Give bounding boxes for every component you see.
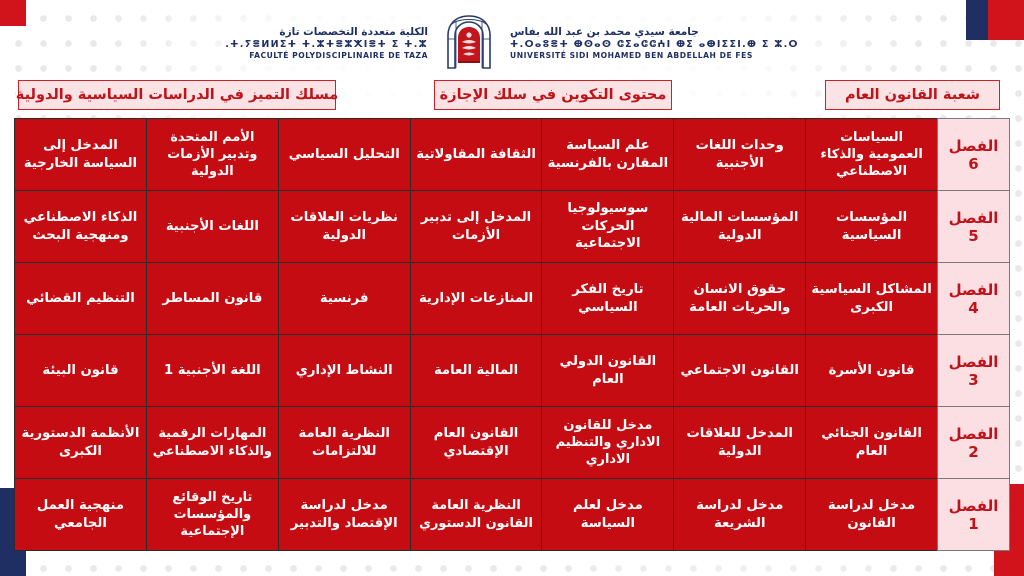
course-cell: نظريات العلاقات الدولية bbox=[278, 191, 410, 263]
course-cell: السياسات العمومية والذكاء الاصطناعي bbox=[806, 119, 938, 191]
course-cell: التنظيم القضائي bbox=[15, 263, 147, 335]
faculty-name-tifinagh: ⵜ.ⵢⴻⵍⵍⵉⵜ ⵜ.ⵣⵜⴻⵣⵅⵏⴻⵜ ⵉ ⵜ.ⵣ. bbox=[225, 39, 428, 51]
course-cell: الذكاء الاصطناعي ومنهجية البحث bbox=[15, 191, 147, 263]
faculty-name-french: FACULTÉ POLYDISCIPLINAIRE DE TAZA bbox=[249, 51, 428, 60]
course-cell: منهجية العمل الجامعي bbox=[15, 479, 147, 551]
course-cell: المنازعات الإدارية bbox=[410, 263, 542, 335]
course-cell: مدخل لدراسة الإقتصاد والتدبير bbox=[278, 479, 410, 551]
course-cell: حقوق الانسان والحريات العامة bbox=[674, 263, 806, 335]
university-name-arabic: جامعة سيدي محمد بن عبد الله بفاس bbox=[510, 26, 699, 39]
course-cell: المدخل إلى السياسة الخارجية bbox=[15, 119, 147, 191]
university-name-french: UNIVERSITÉ SIDI MOHAMED BEN ABDELLAH DE … bbox=[510, 51, 753, 60]
semester-label-cell: الفصل 4 bbox=[938, 263, 1010, 335]
banner-section-title: شعبة القانون العام bbox=[825, 80, 1000, 110]
course-cell: قانون البيئة bbox=[15, 335, 147, 407]
course-cell: المدخل إلى تدبير الأزمات bbox=[410, 191, 542, 263]
table-row: الفصل 3قانون الأسرةالقانون الاجتماعيالقا… bbox=[15, 335, 1010, 407]
semester-label-cell: الفصل 3 bbox=[938, 335, 1010, 407]
table-row: الفصل 2القانون الجنائي العامالمدخل للعلا… bbox=[15, 407, 1010, 479]
course-cell: فرنسية bbox=[278, 263, 410, 335]
curriculum-table-body: الفصل 6السياسات العمومية والذكاء الاصطنا… bbox=[15, 119, 1010, 551]
curriculum-table: الفصل 6السياسات العمومية والذكاء الاصطنا… bbox=[14, 118, 1010, 551]
course-cell: التحليل السياسي bbox=[278, 119, 410, 191]
semester-label-cell: الفصل 2 bbox=[938, 407, 1010, 479]
course-cell: تاريخ الفكر السياسي bbox=[542, 263, 674, 335]
course-cell: القانون الدولي العام bbox=[542, 335, 674, 407]
university-name-tifinagh: ⵜ.ⵔⴰⵓⴻⵜ ⴲⵙⴰⵙ ⵛⵉⴰⵛⵛⵄⵏ ⴲⵉ ⴰⴲⵏⵉⵉⵏ.ⴲ ⵉ ⵣ.ⵔ bbox=[510, 39, 799, 51]
university-identity-block: جامعة سيدي محمد بن عبد الله بفاس ⵜ.ⵔⴰⵓⴻⵜ… bbox=[502, 26, 799, 60]
course-cell: اللغات الأجنبية bbox=[146, 191, 278, 263]
table-row: الفصل 1مدخل لدراسة القانونمدخل لدراسة ال… bbox=[15, 479, 1010, 551]
course-cell: القانون الجنائي العام bbox=[806, 407, 938, 479]
course-cell: القانون الاجتماعي bbox=[674, 335, 806, 407]
table-row: الفصل 4المشاكل السياسية الكبرىحقوق الانس… bbox=[15, 263, 1010, 335]
course-cell: المهارات الرقمية والذكاء الاصطناعي bbox=[146, 407, 278, 479]
course-cell: الأمم المتحدة وتدبير الأزمات الدولية bbox=[146, 119, 278, 191]
slide-header: جامعة سيدي محمد بن عبد الله بفاس ⵜ.ⵔⴰⵓⴻⵜ… bbox=[0, 14, 1024, 72]
course-cell: المؤسسات المالية الدولية bbox=[674, 191, 806, 263]
course-cell: الثقافة المقاولاتية bbox=[410, 119, 542, 191]
course-cell: سوسيولوجيا الحركات الاجتماعية bbox=[542, 191, 674, 263]
table-row: الفصل 5المؤسسات السياسيةالمؤسسات المالية… bbox=[15, 191, 1010, 263]
banner-row: شعبة القانون العام محتوى التكوين في سلك … bbox=[0, 80, 1024, 112]
course-cell: النظرية العامة للالتزامات bbox=[278, 407, 410, 479]
course-cell: النظرية العامة القانون الدستوري bbox=[410, 479, 542, 551]
semester-label-cell: الفصل 1 bbox=[938, 479, 1010, 551]
course-cell: النشاط الإداري bbox=[278, 335, 410, 407]
course-cell: القانون العام الإقتصادي bbox=[410, 407, 542, 479]
course-cell: علم السياسة المقارن بالفرنسية bbox=[542, 119, 674, 191]
faculty-identity-block: الكلية متعددة التخصصات تازة ⵜ.ⵢⴻⵍⵍⵉⵜ ⵜ.ⵣ… bbox=[225, 26, 436, 60]
course-cell: وحدات اللغات الأجنبية bbox=[674, 119, 806, 191]
university-crest-logo bbox=[442, 15, 496, 71]
course-cell: قانون المساطر bbox=[146, 263, 278, 335]
course-cell: المالية العامة bbox=[410, 335, 542, 407]
course-cell: مدخل للقانون الاداري والتنظيم الاداري bbox=[542, 407, 674, 479]
course-cell: مدخل لعلم السياسة bbox=[542, 479, 674, 551]
course-cell: المشاكل السياسية الكبرى bbox=[806, 263, 938, 335]
banner-track-title: مسلك التميز في الدراسات السياسية والدولي… bbox=[18, 80, 336, 110]
table-row: الفصل 6السياسات العمومية والذكاء الاصطنا… bbox=[15, 119, 1010, 191]
course-cell: اللغة الأجنبية 1 bbox=[146, 335, 278, 407]
course-cell: قانون الأسرة bbox=[806, 335, 938, 407]
course-cell: مدخل لدراسة الشريعة bbox=[674, 479, 806, 551]
course-cell: المؤسسات السياسية bbox=[806, 191, 938, 263]
course-cell: المدخل للعلاقات الدولية bbox=[674, 407, 806, 479]
semester-label-cell: الفصل 5 bbox=[938, 191, 1010, 263]
faculty-name-arabic: الكلية متعددة التخصصات تازة bbox=[279, 26, 428, 39]
course-cell: مدخل لدراسة القانون bbox=[806, 479, 938, 551]
course-cell: تاريخ الوقائع والمؤسسات الإجتماعية bbox=[146, 479, 278, 551]
slide-root: جامعة سيدي محمد بن عبد الله بفاس ⵜ.ⵔⴰⵓⴻⵜ… bbox=[0, 0, 1024, 576]
semester-label-cell: الفصل 6 bbox=[938, 119, 1010, 191]
course-cell: الأنظمة الدستورية الكبرى bbox=[15, 407, 147, 479]
banner-content-title: محتوى التكوين في سلك الإجازة bbox=[434, 80, 672, 110]
